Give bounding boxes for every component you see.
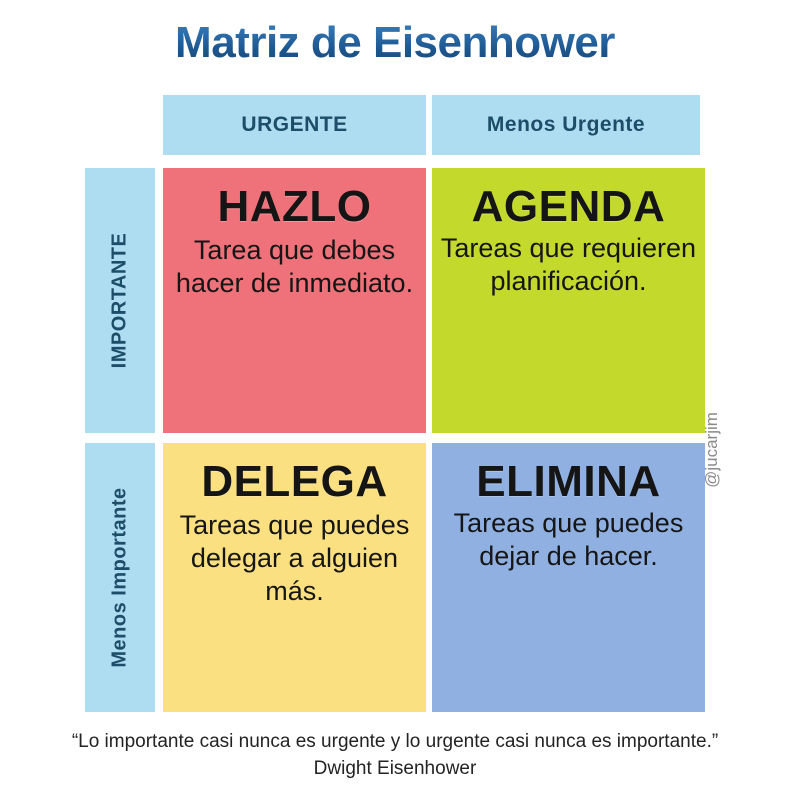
eisenhower-matrix-infographic: Matriz de Eisenhower URGENTE Menos Urgen… [0, 0, 790, 804]
quadrant-delete: ELIMINA Tareas que puedes dejar de hacer… [432, 443, 705, 712]
quadrant-schedule-description: Tareas que requieren planificación. [432, 232, 705, 298]
quadrant-delegate: DELEGA Tareas que puedes delegar a algui… [163, 443, 426, 712]
row-header-less-important: Menos Importante [85, 443, 155, 712]
footer-quote: “Lo importante casi nunca es urgente y l… [0, 728, 790, 755]
footer: “Lo importante casi nunca es urgente y l… [0, 728, 790, 783]
column-header-urgent: URGENTE [163, 95, 426, 155]
quadrant-do-title: HAZLO [217, 182, 371, 232]
row-header-less-important-label: Menos Importante [109, 487, 132, 667]
quadrant-delete-title: ELIMINA [476, 457, 660, 507]
watermark: @jucarjim [700, 390, 724, 510]
quadrant-do-description: Tarea que debes hacer de inmediato. [163, 234, 426, 300]
quadrant-delegate-title: DELEGA [201, 457, 387, 507]
quadrant-do: HAZLO Tarea que debes hacer de inmediato… [163, 168, 426, 433]
page-title: Matriz de Eisenhower [0, 14, 790, 72]
row-header-important: IMPORTANTE [85, 168, 155, 433]
row-header-important-label: IMPORTANTE [109, 233, 132, 369]
column-header-less-urgent-label: Menos Urgente [487, 113, 645, 137]
column-header-urgent-label: URGENTE [241, 113, 347, 137]
watermark-label: @jucarjim [702, 412, 722, 488]
column-header-less-urgent: Menos Urgente [432, 95, 700, 155]
footer-author: Dwight Eisenhower [0, 755, 790, 783]
quadrant-delete-description: Tareas que puedes dejar de hacer. [432, 507, 705, 573]
quadrant-schedule: AGENDA Tareas que requieren planificació… [432, 168, 705, 433]
quadrant-delegate-description: Tareas que puedes delegar a alguien más. [163, 509, 426, 608]
quadrant-schedule-title: AGENDA [472, 182, 666, 232]
